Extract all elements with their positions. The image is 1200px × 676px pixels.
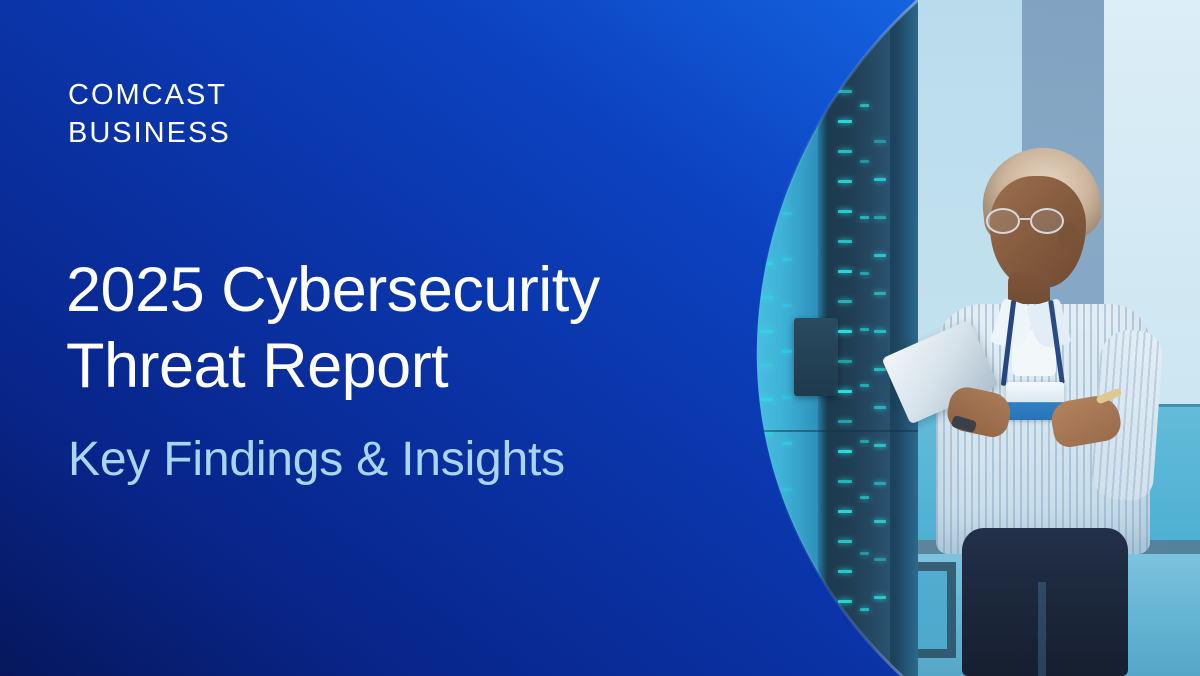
blue-curved-panel xyxy=(0,0,1200,676)
title-slide: COMCAST BUSINESS 2025 Cybersecurity Thre… xyxy=(0,0,1200,676)
